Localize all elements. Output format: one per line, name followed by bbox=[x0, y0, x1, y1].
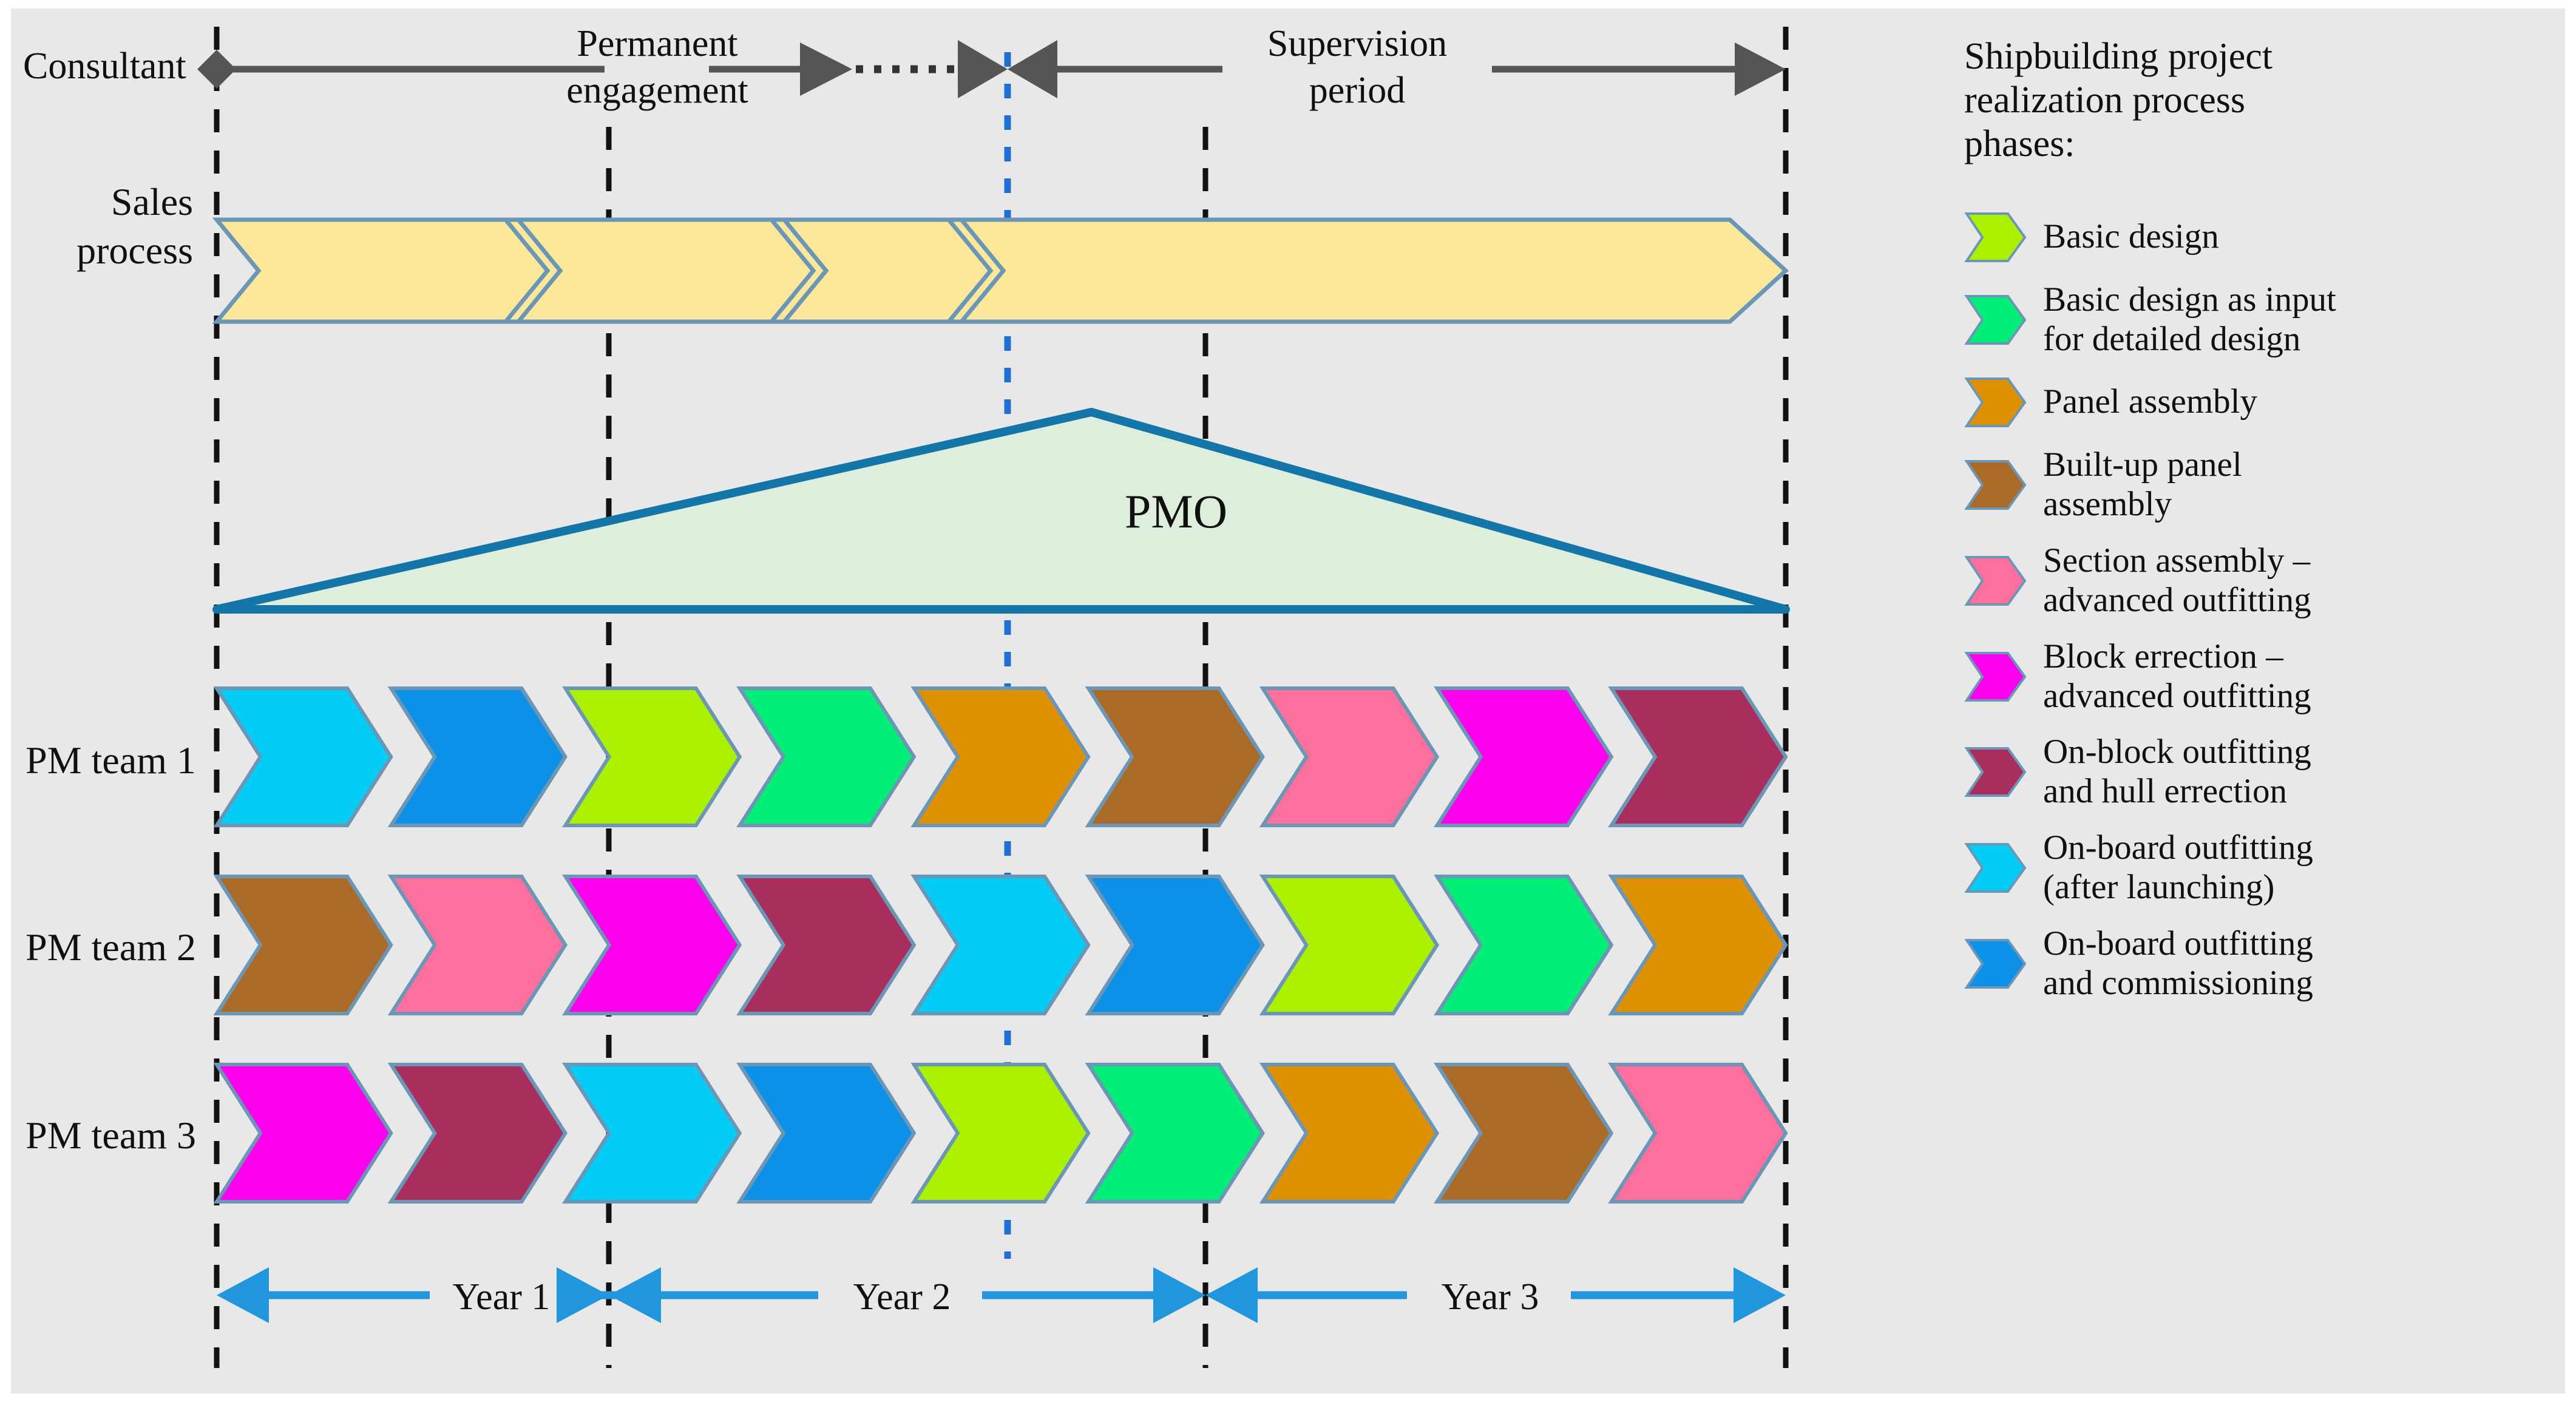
legend-title-line-1: Shipbuilding project bbox=[1964, 35, 2547, 79]
legend-swatch-built-up-panel-icon bbox=[1964, 459, 2027, 511]
diagram-panel: Consultant Permanent engagement Supervis… bbox=[11, 8, 1933, 1394]
legend-swatch-basic-design-input-icon bbox=[1964, 294, 2027, 346]
permanent-engagement-arrowhead-2 bbox=[958, 40, 1008, 98]
phase-chevron-panel-assembly[interactable] bbox=[1263, 1065, 1437, 1202]
legend-label-block-erection: Block errection –advanced outfitting bbox=[2043, 637, 2311, 716]
phase-chevron-basic-design[interactable] bbox=[565, 688, 739, 825]
phase-chevron-on-block-outfitting[interactable] bbox=[391, 1065, 565, 1202]
legend-label-on-board-commissioning: On-board outfittingand commissioning bbox=[2043, 924, 2313, 1003]
legend-item-basic-design[interactable]: Basic design bbox=[1964, 211, 2547, 263]
legend-title: Shipbuilding project realization process… bbox=[1964, 35, 2547, 166]
legend-label-basic-design: Basic design bbox=[2043, 217, 2219, 257]
pm-team-1-chevrons bbox=[217, 688, 1786, 825]
legend-panel: Shipbuilding project realization process… bbox=[1933, 8, 2565, 1394]
pmo-label: PMO bbox=[1125, 485, 1227, 538]
timeline-svg: Consultant Permanent engagement Supervis… bbox=[11, 8, 1933, 1394]
supervision-period-label-line2: period bbox=[1309, 70, 1405, 111]
legend-item-on-board-commissioning[interactable]: On-board outfittingand commissioning bbox=[1964, 924, 2547, 1003]
consultant-label: Consultant bbox=[23, 46, 186, 87]
legend-swatch-panel-assembly-icon bbox=[1964, 376, 2027, 428]
legend-swatch-on-board-after-launch-icon bbox=[1964, 842, 2027, 894]
legend-label-basic-design-input: Basic design as inputfor detailed design bbox=[2043, 280, 2336, 359]
phase-chevron-section-assembly[interactable] bbox=[1263, 688, 1437, 825]
legend-label-section-assembly: Section assembly –advanced outfitting bbox=[2043, 541, 2311, 620]
year-3-arrowhead-left bbox=[1205, 1267, 1258, 1323]
legend-item-section-assembly[interactable]: Section assembly –advanced outfitting bbox=[1964, 541, 2547, 620]
year-3-label: Year 3 bbox=[1442, 1276, 1539, 1318]
legend-title-line-3: phases: bbox=[1964, 123, 2547, 166]
phase-chevron-block-erection[interactable] bbox=[217, 1065, 391, 1202]
legend-swatch-on-board-commissioning-icon bbox=[1964, 938, 2027, 990]
consultant-row: Consultant Permanent engagement Supervis… bbox=[23, 23, 1786, 111]
legend-item-built-up-panel[interactable]: Built-up panelassembly bbox=[1964, 445, 2547, 524]
phase-chevron-on-board-after-launch[interactable] bbox=[217, 688, 391, 825]
legend-item-on-board-after-launch[interactable]: On-board outfitting(after launching) bbox=[1964, 828, 2547, 907]
phase-chevron-built-up-panel[interactable] bbox=[1437, 1065, 1612, 1202]
pm-team-2-chevrons bbox=[217, 876, 1786, 1014]
phase-chevron-basic-design-input[interactable] bbox=[740, 688, 914, 825]
phase-chevron-panel-assembly[interactable] bbox=[914, 688, 1088, 825]
legend-item-basic-design-input[interactable]: Basic design as inputfor detailed design bbox=[1964, 280, 2547, 359]
legend-swatch-block-erection-icon bbox=[1964, 651, 2027, 703]
phase-chevron-basic-design-input[interactable] bbox=[1437, 876, 1612, 1014]
legend-label-on-block-outfitting: On-block outfittingand hull errection bbox=[2043, 733, 2311, 811]
phase-chevron-on-board-after-launch[interactable] bbox=[914, 876, 1088, 1014]
pm-team-3-label: PM team 3 bbox=[25, 1114, 196, 1157]
legend-item-on-block-outfitting[interactable]: On-block outfittingand hull errection bbox=[1964, 733, 2547, 811]
year-2-arrowhead-right bbox=[1153, 1267, 1205, 1323]
legend-label-on-board-after-launch: On-board outfitting(after launching) bbox=[2043, 828, 2313, 907]
pm-team-1-label: PM team 1 bbox=[25, 739, 196, 782]
phase-chevron-on-block-outfitting[interactable] bbox=[740, 876, 914, 1014]
legend-title-line-2: realization process bbox=[1964, 79, 2547, 123]
supervision-period-arrowhead-left bbox=[1008, 40, 1057, 98]
pm-team-rows: PM team 1 PM team 2 PM team 3 bbox=[25, 688, 1786, 1202]
consultant-diamond-marker bbox=[197, 50, 236, 89]
pmo-triangle bbox=[217, 412, 1786, 609]
legend-swatch-section-assembly-icon bbox=[1964, 555, 2027, 607]
phase-chevron-section-assembly[interactable] bbox=[1612, 1065, 1786, 1202]
phase-chevron-on-block-outfitting[interactable] bbox=[1612, 688, 1786, 825]
permanent-engagement-label-line2: engagement bbox=[566, 70, 748, 111]
legend-swatch-basic-design-icon bbox=[1964, 211, 2027, 263]
legend-item-block-erection[interactable]: Block errection –advanced outfitting bbox=[1964, 637, 2547, 716]
phase-chevron-on-board-commissioning[interactable] bbox=[740, 1065, 914, 1202]
pm-team-chevron-container bbox=[217, 688, 1786, 1202]
legend-label-built-up-panel: Built-up panelassembly bbox=[2043, 445, 2242, 524]
year-2-label: Year 2 bbox=[853, 1276, 951, 1318]
phase-chevron-on-board-commissioning[interactable] bbox=[391, 688, 565, 825]
legend-swatch-on-block-outfitting-icon bbox=[1964, 746, 2027, 798]
permanent-engagement-arrowhead bbox=[800, 42, 852, 96]
phase-chevron-built-up-panel[interactable] bbox=[217, 876, 391, 1014]
pmo-triangle-group: PMO bbox=[217, 412, 1786, 609]
supervision-period-arrowhead-right bbox=[1735, 42, 1786, 96]
phase-chevron-panel-assembly[interactable] bbox=[1612, 876, 1786, 1014]
year-3-arrowhead-right bbox=[1734, 1267, 1786, 1323]
pm-team-3-chevrons bbox=[217, 1065, 1786, 1202]
year-2-arrowhead-left bbox=[609, 1267, 661, 1323]
supervision-period-label-line1: Supervision bbox=[1267, 23, 1447, 64]
phase-chevron-on-board-commissioning[interactable] bbox=[1088, 876, 1263, 1014]
phase-chevron-section-assembly[interactable] bbox=[391, 876, 565, 1014]
phase-chevron-basic-design-input[interactable] bbox=[1088, 1065, 1263, 1202]
sales-process-label-line2: process bbox=[76, 229, 193, 272]
legend-label-panel-assembly: Panel assembly bbox=[2043, 382, 2257, 422]
phase-chevron-basic-design[interactable] bbox=[914, 1065, 1088, 1202]
phase-chevron-block-erection[interactable] bbox=[565, 876, 739, 1014]
year-1-arrowhead-right bbox=[557, 1267, 609, 1323]
phase-chevron-on-board-after-launch[interactable] bbox=[565, 1065, 739, 1202]
legend-item-panel-assembly[interactable]: Panel assembly bbox=[1964, 376, 2547, 428]
phase-chevron-basic-design[interactable] bbox=[1263, 876, 1437, 1014]
phase-chevron-built-up-panel[interactable] bbox=[1088, 688, 1263, 825]
timeline-infographic: Consultant Permanent engagement Supervis… bbox=[0, 0, 2576, 1402]
year-axis: Year 1 Year 2 Year 3 bbox=[217, 1267, 1786, 1323]
year-1-label: Year 1 bbox=[453, 1276, 551, 1318]
sales-process-row: Sales process bbox=[76, 180, 1786, 322]
sales-process-label-line1: Sales bbox=[111, 180, 193, 223]
legend-item-list: Basic designBasic design as inputfor det… bbox=[1964, 211, 2547, 1004]
pm-team-2-label: PM team 2 bbox=[25, 926, 196, 969]
year-1-arrowhead-left bbox=[217, 1267, 269, 1323]
phase-chevron-block-erection[interactable] bbox=[1437, 688, 1612, 825]
permanent-engagement-label-line1: Permanent bbox=[577, 23, 737, 64]
